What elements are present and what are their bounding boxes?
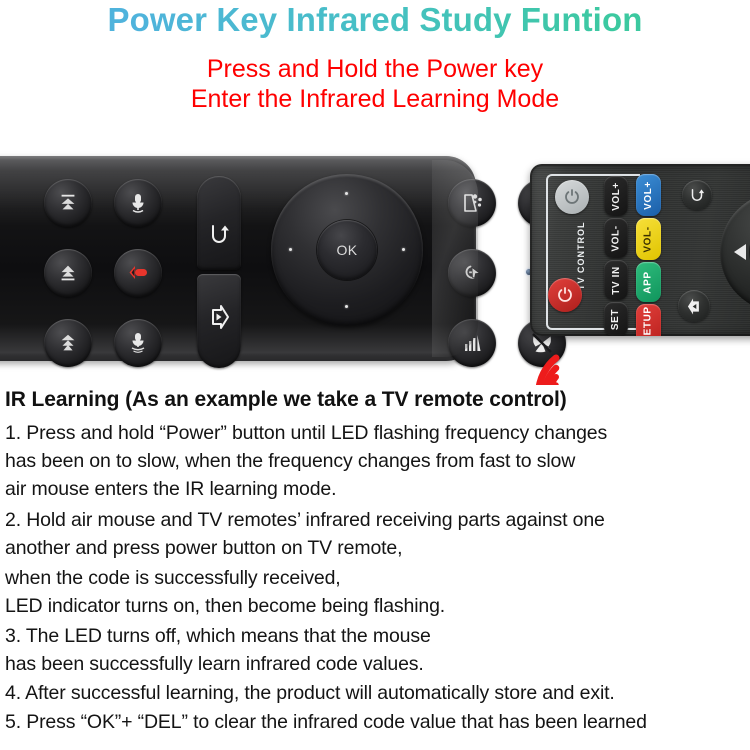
instruction-line-9: has been successfully learn infrared cod… xyxy=(5,653,424,675)
tv-in-key[interactable]: TV IN xyxy=(604,260,628,300)
page-title: Power Key Infrared Study Funtion xyxy=(0,0,750,40)
microphone-icon xyxy=(126,191,150,215)
instruction-line-8: 3. The LED turns off, which means that t… xyxy=(5,625,431,647)
home-arrow-icon xyxy=(685,297,704,316)
page-middle-key[interactable] xyxy=(44,249,92,297)
tv-in-label: TV IN xyxy=(611,266,622,295)
subtitle-line-1: Press and Hold the Power key xyxy=(0,54,750,84)
double-up-arrow-bar-icon xyxy=(57,192,79,214)
tv-set-key[interactable]: SET xyxy=(604,302,628,336)
instruction-line-11: 5. Press “OK”+ “DEL” to clear the infrar… xyxy=(5,711,647,733)
microphone-waves-icon xyxy=(126,331,150,355)
power-icon xyxy=(556,286,574,304)
apps-grid-icon xyxy=(460,191,484,215)
dpad-right-dot[interactable] xyxy=(402,248,405,251)
subtitle-line-2: Enter the Infrared Learning Mode xyxy=(0,84,750,114)
instruction-line-7: LED indicator turns on, then become bein… xyxy=(5,595,445,617)
color-app-key[interactable]: APP xyxy=(636,262,661,302)
tv-dpad[interactable] xyxy=(720,192,750,312)
instruction-line-6: when the code is successfully received, xyxy=(5,567,341,589)
color-app-label: APP xyxy=(643,271,654,293)
header: Power Key Infrared Study Funtion Press a… xyxy=(0,0,750,122)
instructions-heading: IR Learning (As an example we take a TV … xyxy=(5,388,567,412)
apps-key[interactable] xyxy=(448,179,496,227)
cursor-pointer-icon xyxy=(460,261,484,285)
power-icon xyxy=(563,188,581,206)
color-vol-up-key[interactable]: VOL+ xyxy=(636,174,661,216)
tv-back-key[interactable] xyxy=(682,180,712,210)
tv-remote-control: TV CONTROL VOL+ VOL- xyxy=(530,164,750,336)
double-down-arrow-bar-icon xyxy=(57,332,79,354)
ir-wave-signal xyxy=(482,344,562,385)
product-photo: OK xyxy=(0,130,750,385)
color-setup-label: SETUP xyxy=(643,306,654,336)
instruction-line-3: air mouse enters the IR learning mode. xyxy=(5,478,336,500)
page-up-key[interactable] xyxy=(44,179,92,227)
mic-up-key[interactable] xyxy=(114,179,162,227)
red-mic-mute-icon xyxy=(125,260,151,286)
color-vol-down-label: VOL- xyxy=(643,226,654,252)
return-arrow-icon xyxy=(688,186,706,204)
tv-power-key[interactable] xyxy=(548,278,582,312)
color-setup-key[interactable]: SETUP xyxy=(636,304,661,336)
dpad-down-dot[interactable] xyxy=(345,305,348,308)
instruction-line-5: another and press power button on TV rem… xyxy=(5,537,402,559)
home-arrow-icon xyxy=(206,304,232,330)
ok-button[interactable]: OK xyxy=(317,220,377,280)
tv-set-label: SET xyxy=(611,308,622,329)
tv-control-label: TV CONTROL xyxy=(576,222,586,291)
page-down-key[interactable] xyxy=(44,319,92,367)
down-arrow-bar-icon xyxy=(57,262,79,284)
ir-wave-arcs-icon xyxy=(482,344,562,385)
return-arrow-icon xyxy=(207,222,231,246)
instruction-line-10: 4. After successful learning, the produc… xyxy=(5,682,615,704)
tv-vol-up-key[interactable]: VOL+ xyxy=(604,176,628,216)
air-mouse-remote: OK xyxy=(0,156,476,361)
tv-home-key[interactable] xyxy=(678,290,710,322)
back-key[interactable] xyxy=(197,176,241,270)
signal-bars-icon xyxy=(460,331,484,355)
dpad-left-dot[interactable] xyxy=(289,248,292,251)
dpad-navigation[interactable]: OK xyxy=(271,174,423,326)
home-key[interactable] xyxy=(197,274,241,368)
tv-vol-down-key[interactable]: VOL- xyxy=(604,218,628,258)
tv-vol-down-label: VOL- xyxy=(611,225,622,251)
mic-wave-key[interactable] xyxy=(114,319,162,367)
page-root: Power Key Infrared Study Funtion Press a… xyxy=(0,0,750,750)
dpad-left-triangle-icon[interactable] xyxy=(734,244,746,260)
instruction-line-4: 2. Hold air mouse and TV remotes’ infrar… xyxy=(5,509,605,531)
tv-learn-power-key[interactable] xyxy=(555,180,589,214)
voice-key[interactable] xyxy=(114,249,162,297)
tv-vol-up-label: VOL+ xyxy=(611,182,622,211)
dpad-up-dot[interactable] xyxy=(345,192,348,195)
color-vol-down-key[interactable]: VOL- xyxy=(636,218,661,260)
color-vol-up-label: VOL+ xyxy=(643,181,654,210)
mouse-mode-key[interactable] xyxy=(448,249,496,297)
instruction-line-2: has been on to slow, when the frequency … xyxy=(5,450,575,472)
instruction-line-1: 1. Press and hold “Power” button until L… xyxy=(5,422,607,444)
